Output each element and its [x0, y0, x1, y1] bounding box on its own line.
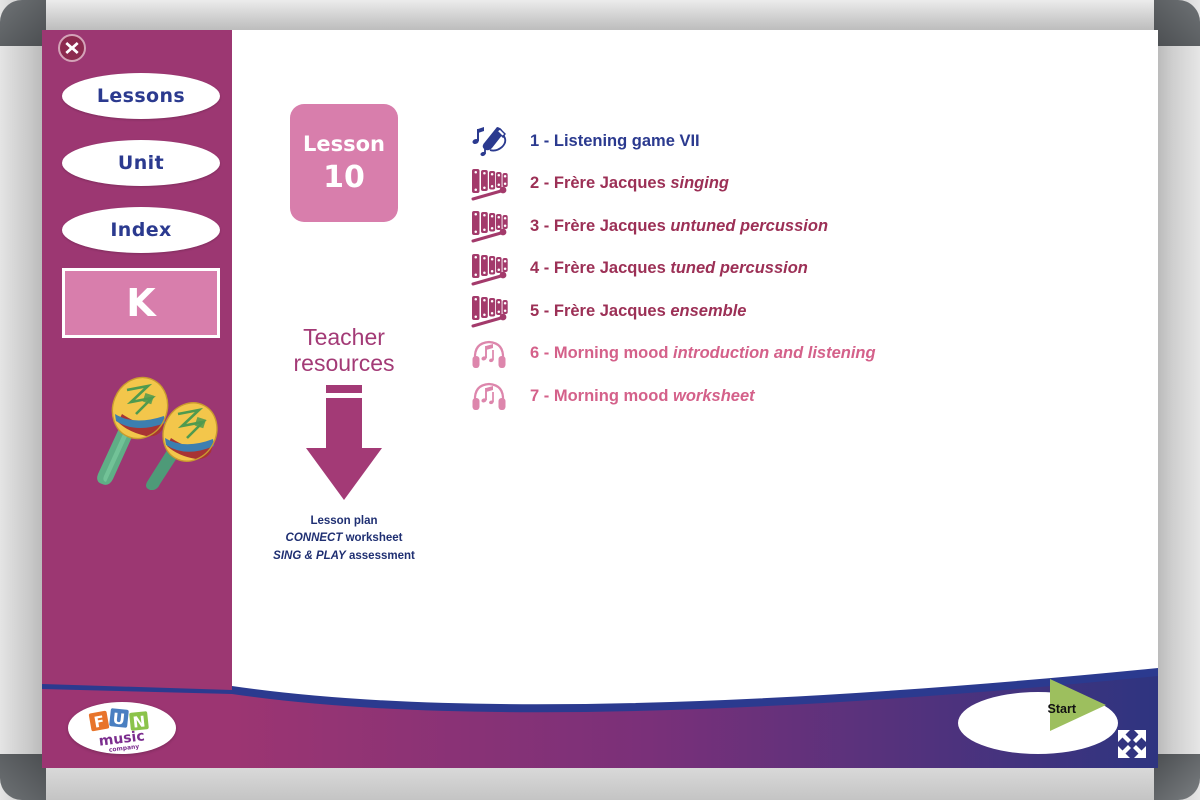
- teacher-resources-file-item: SING & PLAY assessment: [254, 548, 434, 566]
- headphones-music-icon: [470, 378, 510, 414]
- sidebar-item-unit[interactable]: Unit: [62, 140, 220, 186]
- activity-title-emphasis: ensemble: [670, 302, 746, 320]
- activity-label: 1 - Listening game VII: [516, 132, 700, 151]
- frame-corner-top-left: [0, 0, 46, 46]
- activity-separator: -: [539, 217, 554, 235]
- fun-music-company-logo-icon: F U N music company: [68, 702, 176, 754]
- activity-number: 2: [530, 174, 539, 192]
- close-button[interactable]: [58, 34, 86, 62]
- activity-icon-wrap: [470, 208, 516, 244]
- frame-corner-bottom-right: [1154, 754, 1200, 800]
- teacher-resources-file-item: Lesson plan: [254, 513, 434, 531]
- activity-label: 2 - Frère Jacques singing: [516, 174, 729, 193]
- sidebar-item-unit-label: Unit: [118, 152, 164, 174]
- xylophone-icon: [470, 166, 510, 202]
- activity-list: 1 - Listening game VII2 - Frère Jacques …: [470, 120, 1130, 418]
- activity-number: 7: [530, 387, 539, 405]
- activity-row[interactable]: 6 - Morning mood introduction and listen…: [470, 333, 1130, 376]
- file-regular: worksheet: [342, 532, 402, 544]
- teacher-resources-title-line2: resources: [254, 351, 434, 377]
- activity-title: Morning mood: [554, 387, 673, 405]
- activity-row[interactable]: 3 - Frère Jacques untuned percussion: [470, 205, 1130, 248]
- activity-title-emphasis: tuned percussion: [670, 259, 808, 277]
- sidebar: Lessons Unit Index K: [42, 30, 232, 768]
- frame-left-bar: [0, 0, 42, 800]
- activity-row[interactable]: 2 - Frère Jacques singing: [470, 163, 1130, 206]
- frame-bottom-bar: [0, 768, 1200, 800]
- activity-label: 4 - Frère Jacques tuned percussion: [516, 259, 808, 278]
- activity-title-emphasis: introduction and listening: [673, 344, 876, 362]
- main-content: Lesson 10 Teacher resources Lesson plan: [232, 30, 1158, 768]
- sidebar-item-lessons-label: Lessons: [97, 85, 185, 107]
- teacher-resources-file-list: Lesson plan CONNECT worksheet SING & PLA…: [254, 513, 434, 566]
- activity-title: Frère Jacques: [554, 217, 670, 235]
- activity-number: 5: [530, 302, 539, 320]
- close-icon: [63, 39, 81, 57]
- svg-text:U: U: [112, 709, 126, 728]
- activity-separator: -: [539, 302, 554, 320]
- activity-separator: -: [539, 132, 554, 150]
- xylophone-icon: [470, 251, 510, 287]
- activity-label: 3 - Frère Jacques untuned percussion: [516, 217, 828, 236]
- sidebar-item-index[interactable]: Index: [62, 207, 220, 253]
- frame-top-bar: [0, 0, 1200, 30]
- file-regular: Lesson plan: [310, 515, 377, 527]
- activity-icon-wrap: [470, 166, 516, 202]
- download-arrow-icon: [298, 385, 390, 503]
- activity-label: 7 - Morning mood worksheet: [516, 387, 755, 406]
- activity-icon-wrap: [470, 378, 516, 414]
- activity-separator: -: [539, 344, 554, 362]
- frame-corner-bottom-left: [0, 754, 46, 800]
- activity-row[interactable]: 1 - Listening game VII: [470, 120, 1130, 163]
- activity-title: Frère Jacques: [554, 302, 670, 320]
- activity-label: 5 - Frère Jacques ensemble: [516, 302, 746, 321]
- file-emphasis: SING & PLAY: [273, 550, 346, 562]
- activity-number: 6: [530, 344, 539, 362]
- activity-row[interactable]: 4 - Frère Jacques tuned percussion: [470, 248, 1130, 291]
- activity-title-emphasis: singing: [670, 174, 729, 192]
- activity-row[interactable]: 7 - Morning mood worksheet: [470, 375, 1130, 418]
- activity-number: 4: [530, 259, 539, 277]
- activity-separator: -: [539, 174, 554, 192]
- activity-number: 3: [530, 217, 539, 235]
- sidebar-item-lessons[interactable]: Lessons: [62, 73, 220, 119]
- activity-title: Frère Jacques: [554, 259, 670, 277]
- file-emphasis: CONNECT: [286, 532, 343, 544]
- activity-title-emphasis: untuned percussion: [670, 217, 828, 235]
- grade-level-label: K: [126, 281, 155, 325]
- activity-title: Frère Jacques: [554, 174, 670, 192]
- brand-logo[interactable]: F U N music company: [68, 702, 176, 754]
- frame-corner-top-right: [1154, 0, 1200, 46]
- teacher-resources-title-line1: Teacher: [254, 325, 434, 351]
- activity-title: Listening game VII: [554, 132, 700, 150]
- teacher-resources-panel[interactable]: Teacher resources Lesson plan CONNECT wo…: [254, 325, 434, 566]
- xylophone-icon: [470, 208, 510, 244]
- activity-separator: -: [539, 259, 554, 277]
- frame-right-bar: [1158, 0, 1200, 800]
- grade-level-badge[interactable]: K: [62, 268, 220, 338]
- activity-icon-wrap: [470, 336, 516, 372]
- activity-row[interactable]: 5 - Frère Jacques ensemble: [470, 290, 1130, 333]
- sidebar-item-index-label: Index: [110, 219, 171, 241]
- xylophone-icon: [470, 293, 510, 329]
- file-regular: assessment: [346, 550, 415, 562]
- maracas-icon: [78, 370, 228, 490]
- microphone-music-icon: [470, 123, 510, 159]
- activity-title-emphasis: worksheet: [673, 387, 755, 405]
- activity-icon-wrap: [470, 123, 516, 159]
- play-triangle-icon[interactable]: [1046, 676, 1110, 734]
- activity-label: 6 - Morning mood introduction and listen…: [516, 344, 876, 363]
- teacher-resources-file-item: CONNECT worksheet: [254, 530, 434, 548]
- lesson-number-badge[interactable]: Lesson 10: [290, 104, 398, 222]
- lesson-badge-number: 10: [323, 163, 365, 193]
- headphones-music-icon: [470, 336, 510, 372]
- activity-separator: -: [539, 387, 554, 405]
- whiteboard-frame: Lessons Unit Index K: [0, 0, 1200, 800]
- fullscreen-expand-icon: [1114, 726, 1150, 762]
- activity-icon-wrap: [470, 251, 516, 287]
- lesson-screen: Lessons Unit Index K: [42, 30, 1158, 768]
- activity-icon-wrap: [470, 293, 516, 329]
- teacher-resources-title: Teacher resources: [254, 325, 434, 377]
- activity-title: Morning mood: [554, 344, 673, 362]
- lesson-badge-word: Lesson: [303, 134, 385, 155]
- activity-number: 1: [530, 132, 539, 150]
- fullscreen-button[interactable]: [1114, 726, 1150, 762]
